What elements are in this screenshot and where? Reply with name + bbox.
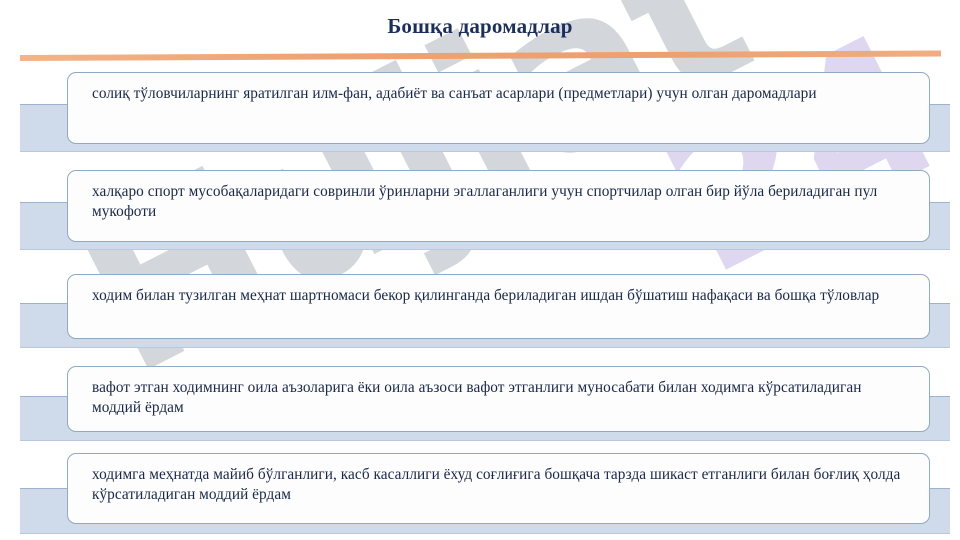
- watermark-purple-text: 24: [628, 0, 960, 320]
- item-text: ходим билан тузилган меҳнат шартномаси б…: [92, 286, 913, 306]
- item-card[interactable]: ходим билан тузилган меҳнат шартномаси б…: [67, 274, 930, 339]
- item-card[interactable]: ходимга меҳнатда майиб бўлганлиги, касб …: [67, 453, 930, 524]
- orange-accent-bar: [20, 50, 941, 61]
- item-text: вафот этган ходимнинг оила аъзоларига ёк…: [92, 378, 913, 418]
- item-card[interactable]: вафот этган ходимнинг оила аъзоларига ёк…: [67, 366, 930, 432]
- slide-canvas: Hujjat 24 Бошқа даромадлар солиқ тўловчи…: [0, 0, 960, 540]
- slide-title: Бошқа даромадлар: [0, 14, 960, 39]
- item-text: халқаро спорт мусобақаларидаги совринли …: [92, 182, 913, 222]
- item-text: ходимга меҳнатда майиб бўлганлиги, касб …: [92, 465, 913, 505]
- item-card[interactable]: солиқ тўловчиларнинг яратилган илм-фан, …: [67, 72, 930, 144]
- item-card[interactable]: халқаро спорт мусобақаларидаги совринли …: [67, 170, 930, 242]
- item-text: солиқ тўловчиларнинг яратилган илм-фан, …: [92, 84, 913, 104]
